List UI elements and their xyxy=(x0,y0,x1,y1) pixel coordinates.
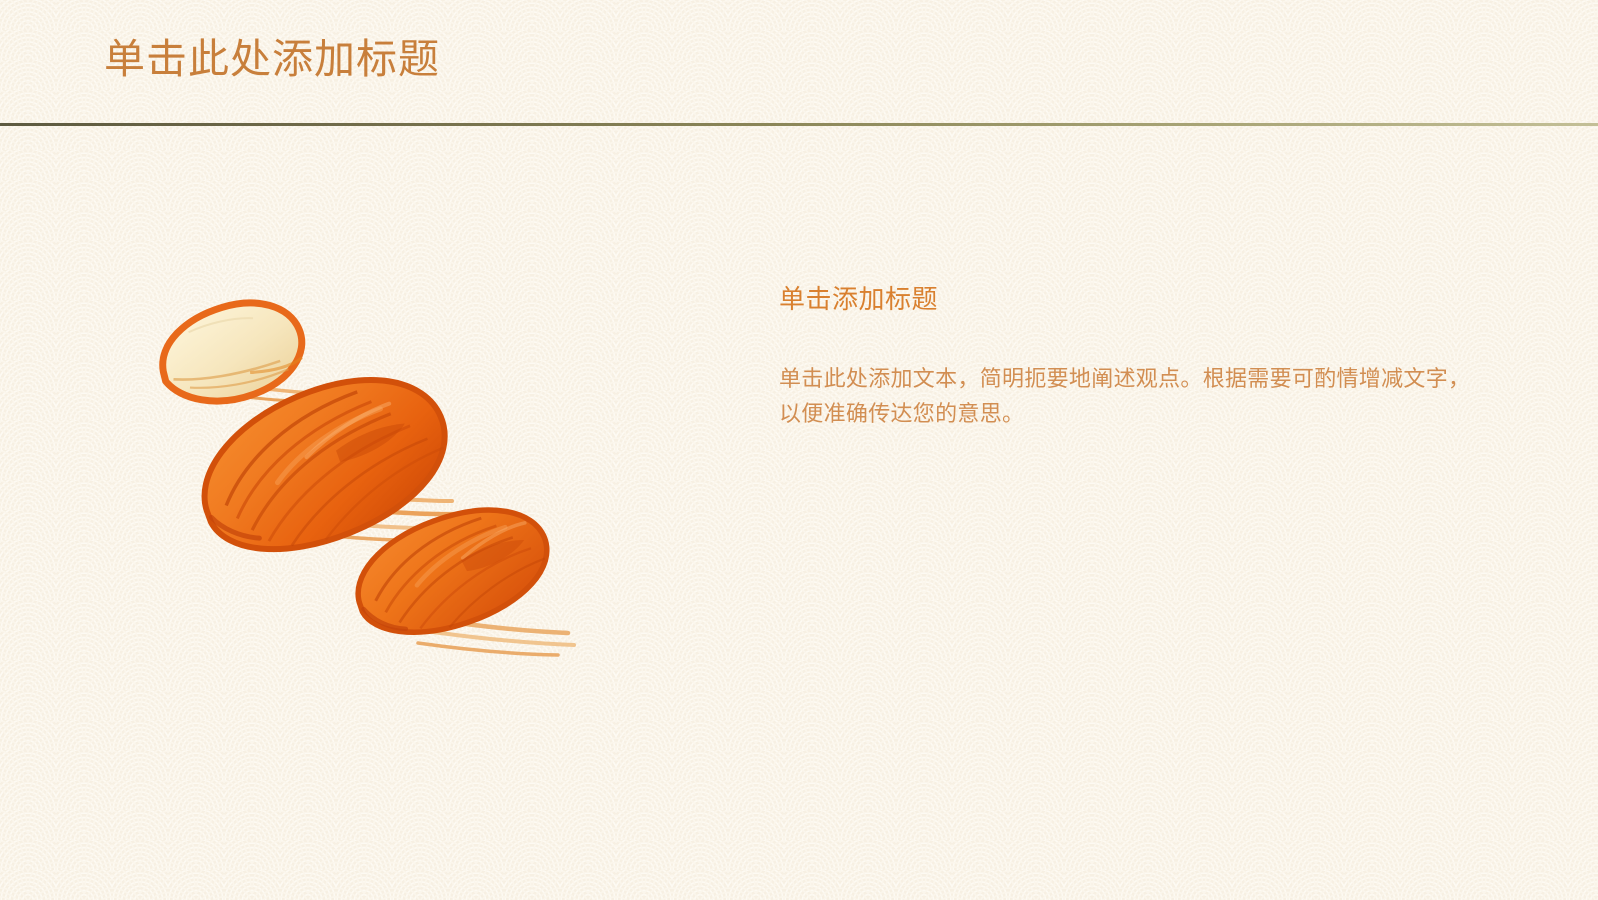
slide-header: 单击此处添加标题 xyxy=(0,0,1598,127)
title-divider-rule xyxy=(0,123,1598,126)
content-text-block: 单击添加标题 单击此处添加文本，简明扼要地阐述观点。根据需要可酌情增减文字，以便… xyxy=(779,283,1485,432)
peeled-almond xyxy=(152,295,313,415)
content-paragraph[interactable]: 单击此处添加文本，简明扼要地阐述观点。根据需要可酌情增减文字，以便准确传达您的意… xyxy=(779,361,1485,432)
page-title[interactable]: 单击此处添加标题 xyxy=(104,36,440,83)
content-sub-heading[interactable]: 单击添加标题 xyxy=(779,283,1485,317)
slide-canvas: 单击此处添加标题 xyxy=(0,0,1598,900)
almonds-illustration xyxy=(130,295,610,665)
